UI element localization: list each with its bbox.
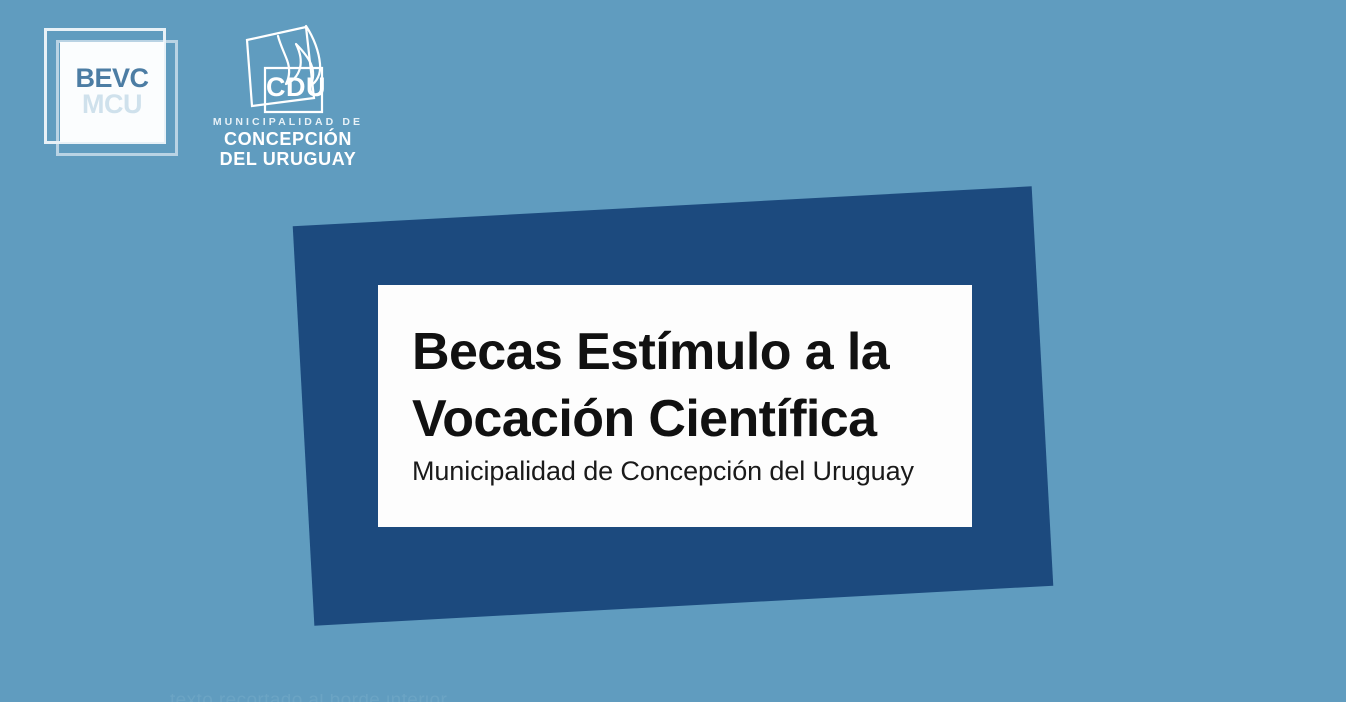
logo-bar: BEVC MCU CDU MUNICIPALIDAD DE CONCEPCIÓN xyxy=(0,0,420,190)
cdu-line-concepcion: CONCEPCIÓN xyxy=(208,129,368,149)
cdu-monogram: CDU xyxy=(266,74,326,101)
mcu-acronym: MCU xyxy=(82,92,142,118)
title-subtitle: Municipalidad de Concepción del Uruguay xyxy=(412,454,942,489)
slide-canvas: BEVC MCU CDU MUNICIPALIDAD DE CONCEPCIÓN xyxy=(0,0,1346,702)
title-line-1: Becas Estímulo a la xyxy=(412,319,942,386)
cdu-crest-icon xyxy=(244,24,332,116)
cdu-line-municipalidad: MUNICIPALIDAD DE xyxy=(208,116,368,129)
cdu-line-del-uruguay: DEL URUGUAY xyxy=(208,149,368,169)
title-line-2: Vocación Científica xyxy=(412,386,942,453)
bevc-mcu-logo: BEVC MCU xyxy=(44,28,180,158)
footer-clipped-text: texto recortado al borde inferior xyxy=(0,694,1346,702)
footer-clipped-text-label: texto recortado al borde inferior xyxy=(170,694,447,702)
cdu-wordmark: MUNICIPALIDAD DE CONCEPCIÓN DEL URUGUAY xyxy=(208,116,368,169)
bevc-plate: BEVC MCU xyxy=(60,42,164,142)
title-card: Becas Estímulo a la Vocación Científica … xyxy=(378,285,972,527)
cdu-logo: CDU MUNICIPALIDAD DE CONCEPCIÓN DEL URUG… xyxy=(208,24,368,164)
